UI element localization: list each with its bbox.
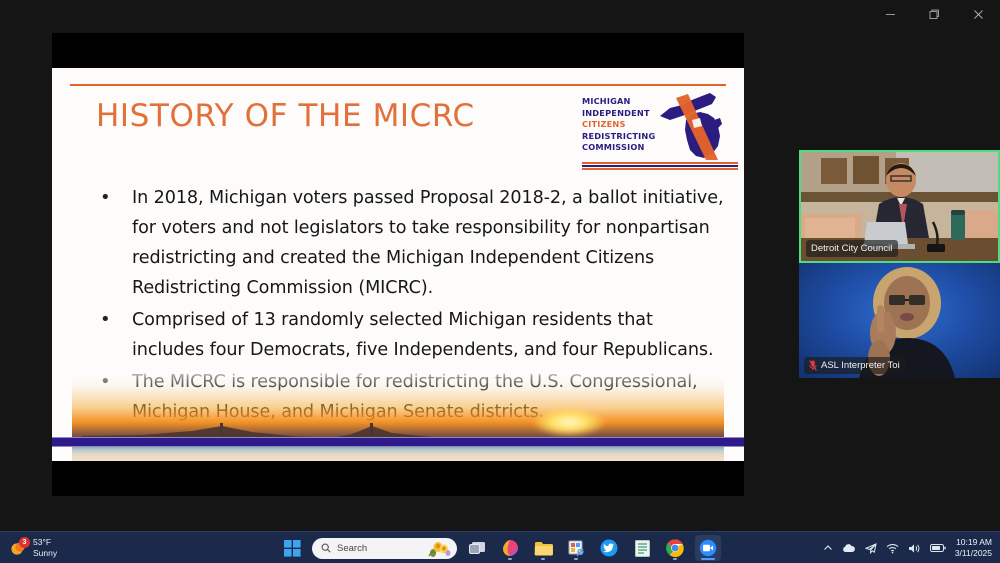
page-title: HISTORY OF THE MICRC bbox=[96, 98, 475, 134]
participant-name-badge: Detroit City Council bbox=[806, 240, 898, 257]
search-placeholder: Search bbox=[337, 543, 367, 554]
search-input[interactable]: Search bbox=[312, 538, 457, 559]
system-tray: 10:19 AM 3/11/2025 bbox=[823, 532, 992, 563]
restore-button[interactable] bbox=[912, 0, 956, 28]
window-titlebar bbox=[0, 0, 1000, 28]
clock-time: 10:19 AM bbox=[955, 537, 992, 548]
task-view-icon[interactable] bbox=[464, 535, 490, 561]
participant-name: ASL Interpreter Toi bbox=[821, 359, 900, 372]
video-tile-detroit-city-council[interactable]: Detroit City Council bbox=[799, 150, 1000, 263]
onedrive-icon[interactable] bbox=[842, 543, 856, 553]
logo-line-3: CITIZENS bbox=[582, 119, 655, 131]
participant-name-badge: ASL Interpreter Toi bbox=[804, 357, 906, 374]
google-chrome-icon[interactable] bbox=[662, 535, 688, 561]
snipping-tool-icon[interactable] bbox=[563, 535, 589, 561]
bullet-marker: • bbox=[90, 183, 132, 303]
purple-accent-band bbox=[52, 437, 744, 447]
video-tile-asl-interpreter[interactable]: ASL Interpreter Toi bbox=[799, 263, 1000, 378]
muted-microphone-icon bbox=[809, 360, 817, 371]
logo-line-2: INDEPENDENT bbox=[582, 108, 655, 120]
logo-line-5: COMMISSION bbox=[582, 142, 655, 154]
battery-icon[interactable] bbox=[930, 543, 946, 553]
telegram-icon[interactable] bbox=[865, 543, 877, 554]
list-item: • In 2018, Michigan voters passed Propos… bbox=[90, 183, 730, 303]
participant-name: Detroit City Council bbox=[811, 242, 892, 255]
bullet-text: Comprised of 13 randomly selected Michig… bbox=[132, 305, 730, 365]
minimize-button[interactable] bbox=[868, 0, 912, 28]
volume-icon[interactable] bbox=[908, 543, 921, 554]
twitter-icon[interactable] bbox=[596, 535, 622, 561]
chevron-up-icon[interactable] bbox=[823, 543, 833, 553]
close-button[interactable] bbox=[956, 0, 1000, 28]
zoom-meeting-stage: HISTORY OF THE MICRC M bbox=[0, 28, 1000, 531]
sticky-notes-icon[interactable] bbox=[629, 535, 655, 561]
clock-date: 3/11/2025 bbox=[955, 548, 992, 559]
micrc-logo: MICHIGAN INDEPENDENT CITIZENS REDISTRICT… bbox=[576, 90, 744, 174]
wifi-icon[interactable] bbox=[886, 543, 899, 554]
logo-line-4: REDISTRICTING bbox=[582, 131, 655, 143]
file-explorer-icon[interactable] bbox=[530, 535, 556, 561]
zoom-icon[interactable] bbox=[695, 535, 721, 561]
windows-taskbar: 3 53°F Sunny Search bbox=[0, 531, 1000, 563]
presentation-slide: HISTORY OF THE MICRC M bbox=[52, 68, 744, 461]
bullet-text: In 2018, Michigan voters passed Proposal… bbox=[132, 183, 730, 303]
search-icon bbox=[321, 543, 331, 553]
list-item: • Comprised of 13 randomly selected Mich… bbox=[90, 305, 730, 365]
shared-screen-letterbox: HISTORY OF THE MICRC M bbox=[52, 33, 744, 496]
logo-line-1: MICHIGAN bbox=[582, 96, 655, 108]
bullet-marker: • bbox=[90, 305, 132, 365]
logo-rules bbox=[582, 162, 738, 171]
michigan-state-icon bbox=[656, 90, 738, 167]
start-button[interactable] bbox=[279, 535, 305, 561]
taskbar-clock[interactable]: 10:19 AM 3/11/2025 bbox=[955, 537, 992, 559]
slide-top-rule bbox=[70, 84, 726, 86]
microsoft-365-icon[interactable] bbox=[497, 535, 523, 561]
daffodil-icon bbox=[425, 540, 451, 557]
logo-wordmark: MICHIGAN INDEPENDENT CITIZENS REDISTRICT… bbox=[582, 96, 655, 154]
mackinac-bridge-sunset-image bbox=[72, 369, 724, 461]
